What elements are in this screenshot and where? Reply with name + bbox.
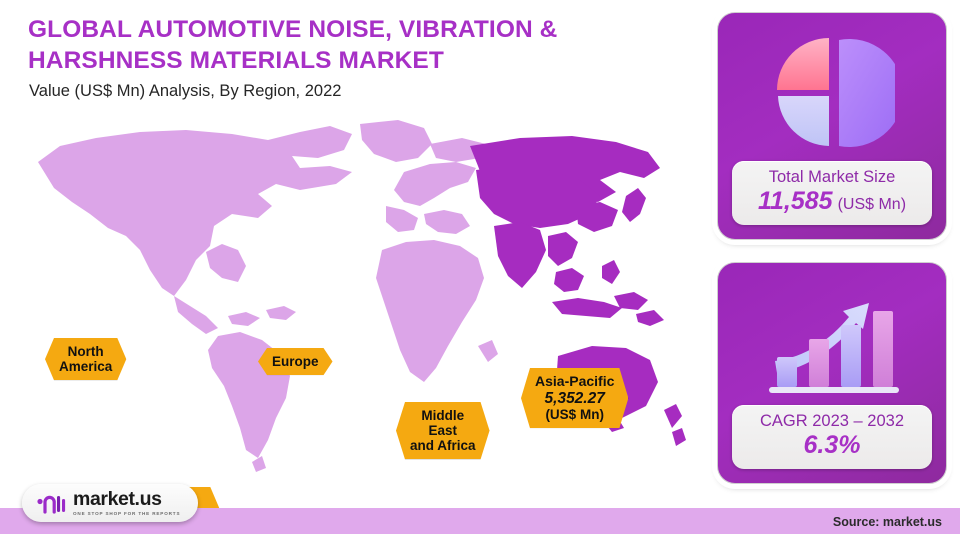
region-label-line1: Asia-Pacific <box>535 374 614 390</box>
map-label-asia-pacific[interactable]: Asia-Pacific 5,352.27 (US$ Mn) <box>521 368 628 428</box>
source-text: Source: market.us <box>833 515 942 529</box>
page-title: GLOBAL AUTOMOTIVE NOISE, VIBRATION & HAR… <box>28 14 668 77</box>
card-unit: (US$ Mn) <box>838 196 906 214</box>
region-value: 5,352.27 <box>535 390 614 407</box>
market-size-label-box: Total Market Size 11,585(US$ Mn) <box>732 161 932 225</box>
region-label-line3: and Africa <box>410 438 476 453</box>
logo-name: market.us <box>73 490 180 510</box>
card-label-text: CAGR 2023 – 2032 <box>736 412 928 431</box>
pie-chart-icon <box>718 23 946 163</box>
logo-mark-icon <box>36 491 66 515</box>
region-unit: (US$ Mn) <box>535 407 614 422</box>
region-label-line2: America <box>59 359 112 374</box>
region-label-line1: Europe <box>272 354 319 369</box>
region-label-line2: East <box>410 423 476 438</box>
logo-tagline: ONE STOP SHOP FOR THE REPORTS <box>73 512 180 517</box>
region-label-line1: Middle <box>410 408 476 423</box>
bar-chart-growth-icon <box>718 273 946 413</box>
region-label-line1: North <box>59 344 112 359</box>
map-label-north-america[interactable]: North America <box>45 338 126 380</box>
card-cagr[interactable]: CAGR 2023 – 2032 6.3% <box>717 262 947 484</box>
cagr-label-box: CAGR 2023 – 2032 6.3% <box>732 405 932 469</box>
card-label-text: Total Market Size <box>736 168 928 187</box>
map-label-middle-east-africa[interactable]: Middle East and Africa <box>396 402 490 459</box>
map-label-europe[interactable]: Europe <box>258 348 333 375</box>
card-value: 6.3% <box>804 431 861 461</box>
page-subtitle: Value (US$ Mn) Analysis, By Region, 2022 <box>29 82 649 101</box>
world-map: North America Europe Middle East and Afr… <box>0 110 690 480</box>
card-total-market-size[interactable]: Total Market Size 11,585(US$ Mn) <box>717 12 947 240</box>
market-us-logo[interactable]: market.us ONE STOP SHOP FOR THE REPORTS <box>22 484 198 522</box>
card-value: 11,585 <box>758 187 833 217</box>
infographic-page: GLOBAL AUTOMOTIVE NOISE, VIBRATION & HAR… <box>0 0 960 534</box>
